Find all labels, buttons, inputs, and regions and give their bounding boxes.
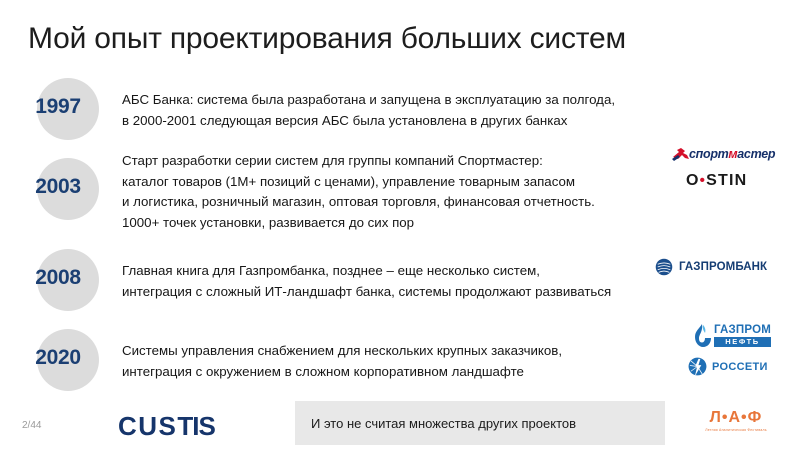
year-label: 2008 (18, 266, 98, 290)
gazpromneft-flame-icon (692, 323, 712, 349)
sportmaster-wordmark: спортмастер (689, 146, 775, 162)
gazpromneft-wordmark: ГАЗПРОМ НЕФТЬ (714, 324, 771, 347)
row-logos: ГАЗПРОМ НЕФТЬ РОССЕТИ (660, 323, 800, 376)
timeline-text: Старт разработки серии систем для группы… (122, 151, 682, 233)
laf-logo-icon: Л•А•Ф Летняя Аналитическая Фестиваль (688, 409, 784, 433)
gazpromneft-line2: НЕФТЬ (714, 337, 771, 347)
gazprombank-logo-icon: ГАЗПРОМБАНК (655, 257, 795, 277)
laf-wordmark: Л•А•Ф (688, 409, 784, 427)
timeline-row: 2008 Главная книга для Газпромбанка, поз… (0, 249, 800, 311)
footer-note-text: И это не считая множества других проекто… (311, 416, 576, 431)
footer-note-box: И это не считая множества других проекто… (295, 401, 665, 445)
text-line: 1000+ точек установки, развивается до си… (122, 213, 682, 234)
ostin-logo-icon: O•STIN (686, 172, 800, 189)
text-line: АБС Банка: система была разработана и за… (122, 90, 682, 111)
text-line: и логистика, розничный магазин, оптовая … (122, 192, 682, 213)
timeline-text: АБС Банка: система была разработана и за… (122, 90, 682, 131)
text-line: интеграция с сложный ИТ-ландшафт банка, … (122, 282, 682, 303)
page-number: 2/44 (22, 420, 41, 431)
custis-logo-icon: CUSTIS (118, 412, 217, 440)
year-badge: 2003 (37, 158, 99, 220)
text-line: Главная книга для Газпромбанка, позднее … (122, 261, 682, 282)
year-badge: 2020 (37, 329, 99, 391)
text-line: Старт разработки серии систем для группы… (122, 151, 682, 172)
timeline-list: 1997 АБС Банка: система была разработана… (0, 78, 800, 391)
rosseti-logo-icon: РОССЕТИ (688, 357, 800, 376)
gazprombank-emblem-icon (655, 258, 673, 276)
page-title: Мой опыт проектирования больших систем (28, 20, 626, 58)
year-label: 1997 (18, 95, 98, 119)
gazpromneft-logo-icon: ГАЗПРОМ НЕФТЬ (692, 323, 800, 349)
row-logos: спортмастер O•STIN (660, 146, 800, 189)
timeline-row: 2003 Старт разработки серии систем для г… (0, 148, 800, 233)
text-line: Системы управления снабжением для нескол… (122, 341, 682, 362)
year-label: 2003 (18, 175, 98, 199)
text-line: каталог товаров (1M+ позиций с ценами), … (122, 172, 682, 193)
year-label: 2020 (18, 346, 98, 370)
sportmaster-logo-icon: спортмастер (672, 146, 784, 163)
year-badge: 1997 (37, 78, 99, 140)
timeline-row: 1997 АБС Банка: система была разработана… (0, 78, 800, 140)
timeline-text: Главная книга для Газпромбанка, позднее … (122, 261, 682, 302)
timeline-text: Системы управления снабжением для нескол… (122, 341, 682, 382)
row-logos: ГАЗПРОМБАНК (655, 257, 795, 277)
year-badge: 2008 (37, 249, 99, 311)
slide: Мой опыт проектирования больших систем 1… (0, 0, 800, 450)
laf-subtitle: Летняя Аналитическая Фестиваль (688, 428, 784, 433)
text-line: интеграция с окружением в сложном корпор… (122, 362, 682, 383)
rosseti-wordmark: РОССЕТИ (712, 361, 768, 373)
sportmaster-runner-icon (672, 146, 690, 162)
rosseti-emblem-icon (688, 357, 707, 376)
gazprombank-wordmark: ГАЗПРОМБАНК (679, 261, 767, 273)
gazpromneft-line1: ГАЗПРОМ (714, 324, 771, 336)
timeline-row: 2020 Системы управления снабжением для н… (0, 329, 800, 391)
text-line: в 2000-2001 следующая версия АБС была ус… (122, 111, 682, 132)
